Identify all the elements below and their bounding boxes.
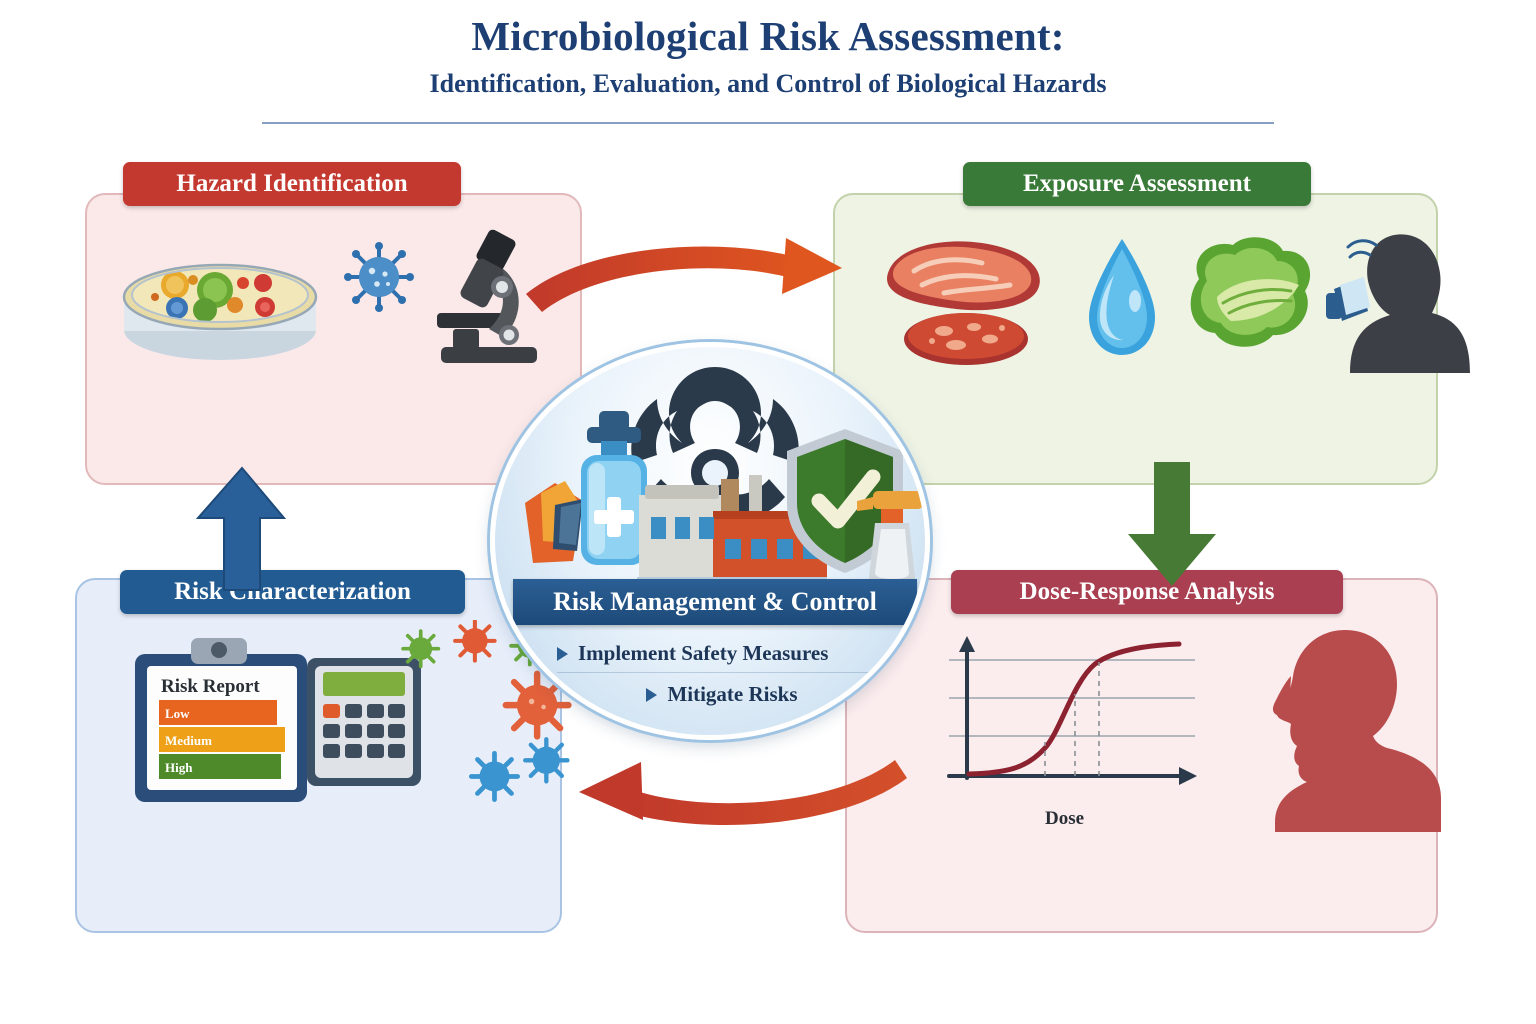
- svg-text:High: High: [165, 760, 193, 775]
- svg-text:Medium: Medium: [165, 733, 212, 748]
- panel-header-exposure-assessment[interactable]: Exposure Assessment: [963, 162, 1311, 206]
- lettuce-icon: [1175, 233, 1320, 363]
- virus-icon: [343, 241, 415, 313]
- human-silhouette-icon: [1245, 622, 1445, 832]
- bullet-label: Implement Safety Measures: [578, 641, 828, 666]
- svg-text:Risk Report: Risk Report: [161, 676, 260, 697]
- sigmoid-curve-chart-icon: [927, 630, 1227, 820]
- raw-meat-icon: [870, 227, 1060, 372]
- title-divider: [262, 122, 1274, 124]
- infographic-canvas: Microbiological Risk Assessment: Identif…: [0, 0, 1536, 1024]
- water-droplet-icon: [1083, 235, 1161, 363]
- panel-exposure-assessment[interactable]: Assess Contamination Levels Evaluate Exp…: [833, 193, 1438, 485]
- panel-header-risk-characterization[interactable]: Risk Characterization: [120, 570, 465, 614]
- petri-dish-icon: [115, 235, 325, 365]
- page-title: Microbiological Risk Assessment: Identif…: [0, 14, 1536, 99]
- spray-bottle-icon: [851, 485, 930, 589]
- bullet-list-center: Implement Safety Measures Mitigate Risks: [557, 639, 887, 720]
- panel-hazard-identification[interactable]: Identify Pathogen Determine Hazards: [85, 193, 582, 485]
- bullet-item[interactable]: Implement Safety Measures: [557, 639, 887, 673]
- panel-risk-characterization[interactable]: Risk Report Low Medium High: [75, 578, 562, 933]
- panel-header-dose-response-analysis[interactable]: Dose-Response Analysis: [951, 570, 1343, 614]
- clipboard-icon: Risk Report Low Medium High: [125, 628, 325, 808]
- person-drinking-icon: [1320, 223, 1480, 373]
- panel-dose-response-analysis[interactable]: Dose Determine Infectious Dose Assess He…: [845, 578, 1438, 933]
- panel-header-hazard-identification[interactable]: Hazard Identification: [123, 162, 461, 206]
- bullet-triangle-icon: [557, 647, 568, 661]
- bullet-label: Mitigate Risks: [667, 682, 797, 707]
- title-main: Microbiological Risk Assessment:: [0, 14, 1536, 60]
- title-subtitle: Identification, Evaluation, and Control …: [0, 69, 1536, 99]
- microscope-icon: [423, 225, 553, 370]
- chart-x-axis-label: Dose: [1045, 808, 1084, 830]
- bullet-triangle-icon: [646, 688, 657, 702]
- center-header[interactable]: Risk Management & Control: [513, 579, 917, 625]
- center-hub-risk-management[interactable]: Risk Management & Control Implement Safe…: [490, 342, 930, 740]
- bullet-item[interactable]: Mitigate Risks: [557, 680, 887, 713]
- svg-text:Low: Low: [165, 706, 190, 721]
